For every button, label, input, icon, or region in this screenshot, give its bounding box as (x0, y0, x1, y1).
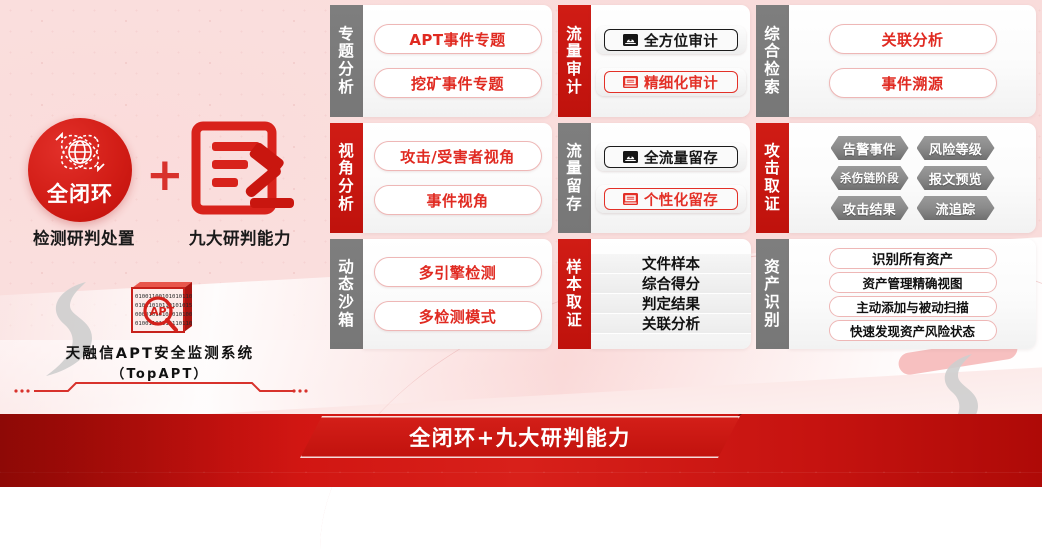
framed-button[interactable]: 个性化留存 (596, 185, 746, 213)
panel-label-traffic-retention: 流量留存 (558, 123, 591, 233)
label-char: 箱 (338, 312, 355, 330)
panel-label-perspective-analysis: 视角分析 (330, 123, 363, 233)
label-char: 角 (338, 160, 355, 178)
hex-button-group: 告警事件风险等级杀伤链阶段报文预览攻击结果流追踪 (831, 136, 995, 220)
panel-label-asset-identification: 资产识别 (756, 239, 789, 349)
label-char: 产 (764, 276, 781, 294)
plus-symbol: + (146, 152, 184, 197)
banner-shade (0, 414, 300, 487)
label-char: 取 (764, 178, 781, 196)
framed-button[interactable]: 全方位审计 (596, 26, 746, 54)
capability-grid: 专题分析APT事件专题挖矿事件专题流量审计全方位审计精细化审计综合检索关联分析事… (330, 5, 1036, 347)
hex-button[interactable]: 攻击结果 (831, 196, 909, 220)
framed-button-label: 全流量留存 (644, 147, 718, 168)
brand-label-left: 检测研判处置 (33, 225, 135, 249)
label-char: 样 (566, 259, 583, 277)
hex-button[interactable]: 告警事件 (831, 136, 909, 160)
panel-body-topic-analysis: APT事件专题挖矿事件专题 (363, 5, 552, 117)
framed-button-label: 精细化审计 (644, 72, 718, 93)
server-icon (623, 34, 638, 46)
panel-attack-forensics: 攻击取证告警事件风险等级杀伤链阶段报文预览攻击结果流追踪 (756, 123, 1036, 233)
panel-perspective-analysis: 视角分析攻击/受害者视角事件视角 (330, 123, 552, 233)
panel-sample-forensics: 样本取证文件样本综合得分判定结果关联分析 (558, 239, 750, 349)
hex-button[interactable]: 风险等级 (917, 136, 995, 160)
svg-text:APT: APT (150, 305, 175, 318)
brand-caption-row: 检测研判处置 九大研判能力 (6, 225, 318, 249)
label-char: 分 (338, 61, 355, 79)
pill-button[interactable]: 关联分析 (829, 24, 997, 54)
panel-body-traffic-retention: 全流量留存个性化留存 (591, 123, 750, 233)
product-name: 天融信APT安全监测系统 (14, 342, 306, 363)
hex-button[interactable]: 流追踪 (917, 196, 995, 220)
label-char: 动 (338, 259, 355, 277)
label-char: 取 (566, 294, 583, 312)
apt-server-magnifier-icon: 01001100101010110 01011010110101015 0000… (122, 282, 198, 336)
framed-button[interactable]: 全流量留存 (596, 143, 746, 171)
monitor-icon (623, 193, 638, 205)
label-char: 计 (566, 79, 583, 97)
label-char: 沙 (338, 294, 355, 312)
label-char: 资 (764, 259, 781, 277)
list-item[interactable]: 快速发现资产风险状态 (829, 320, 997, 341)
poster-root: 全闭环 + 检测研判处置 九大研判能力 010011001 (0, 0, 1042, 487)
panel-topic-analysis: 专题分析APT事件专题挖矿事件专题 (330, 5, 552, 117)
pill-button[interactable]: 攻击/受害者视角 (374, 141, 542, 171)
label-char: 合 (764, 43, 781, 61)
monitor-icon (623, 76, 638, 88)
panel-traffic-retention: 流量留存全流量留存个性化留存 (558, 123, 750, 233)
panel-label-dynamic-sandbox: 动态沙箱 (330, 239, 363, 349)
panel-body-dynamic-sandbox: 多引擎检测多检测模式 (363, 239, 552, 349)
panel-comprehensive-search: 综合检索关联分析事件溯源 (756, 5, 1036, 117)
pill-button[interactable]: 事件视角 (374, 185, 542, 215)
label-char: 题 (338, 43, 355, 61)
label-char: 流 (566, 26, 583, 44)
panel-body-perspective-analysis: 攻击/受害者视角事件视角 (363, 123, 552, 233)
row-list: 文件样本综合得分判定结果关联分析 (591, 254, 751, 334)
brand-label-right: 九大研判能力 (189, 225, 291, 249)
label-char: 击 (764, 160, 781, 178)
product-block: 01001100101010110 01011010110101015 0000… (14, 282, 306, 382)
label-char: 析 (338, 196, 355, 214)
list-item[interactable]: 综合得分 (591, 274, 751, 294)
document-gavel-icon (190, 120, 298, 220)
label-char: 视 (338, 143, 355, 161)
label-char: 索 (764, 79, 781, 97)
panel-traffic-audit: 流量审计全方位审计精细化审计 (558, 5, 750, 117)
panel-body-attack-forensics: 告警事件风险等级杀伤链阶段报文预览攻击结果流追踪 (789, 123, 1036, 233)
panel-asset-identification: 资产识别识别所有资产资产管理精确视图主动添加与被动扫描快速发现资产风险状态 (756, 239, 1036, 349)
framed-button[interactable]: 精细化审计 (596, 68, 746, 96)
panel-body-sample-forensics: 文件样本综合得分判定结果关联分析 (591, 239, 751, 349)
framed-button-label: 全方位审计 (644, 30, 718, 51)
label-char: 存 (566, 196, 583, 214)
hex-button[interactable]: 报文预览 (917, 166, 995, 190)
label-char: 别 (764, 312, 781, 330)
closed-loop-logo: 全闭环 (28, 118, 132, 222)
panel-label-traffic-audit: 流量审计 (558, 5, 591, 117)
hex-button[interactable]: 杀伤链阶段 (831, 166, 909, 190)
product-subname: （TopAPT） (14, 363, 306, 382)
list-item[interactable]: 文件样本 (591, 254, 751, 274)
label-char: 量 (566, 160, 583, 178)
banner-title: 全闭环+九大研判能力 (300, 416, 740, 458)
pill-button[interactable]: 事件溯源 (829, 68, 997, 98)
label-char: 检 (764, 61, 781, 79)
label-char: 量 (566, 43, 583, 61)
pill-button[interactable]: 多检测模式 (374, 301, 542, 331)
pill-button[interactable]: 挖矿事件专题 (374, 68, 542, 98)
label-char: 态 (338, 276, 355, 294)
label-char: 证 (566, 312, 583, 330)
bottom-banner: 全闭环+九大研判能力 (0, 414, 1042, 487)
label-char: 攻 (764, 143, 781, 161)
panel-body-asset-identification: 识别所有资产资产管理精确视图主动添加与被动扫描快速发现资产风险状态 (789, 239, 1036, 349)
pill-button[interactable]: APT事件专题 (374, 24, 542, 54)
brand-block: 全闭环 + 检测研判处置 九大研判能力 (6, 118, 318, 238)
label-char: 审 (566, 61, 583, 79)
label-char: 综 (764, 26, 781, 44)
list-item[interactable]: 关联分析 (591, 314, 751, 334)
label-char: 专 (338, 26, 355, 44)
list-item[interactable]: 资产管理精确视图 (829, 272, 997, 293)
label-char: 证 (764, 196, 781, 214)
label-char: 析 (338, 79, 355, 97)
panel-label-sample-forensics: 样本取证 (558, 239, 591, 349)
panel-label-attack-forensics: 攻击取证 (756, 123, 789, 233)
server-icon (623, 151, 638, 163)
label-char: 识 (764, 294, 781, 312)
list-item[interactable]: 主动添加与被动扫描 (829, 296, 997, 317)
list-item[interactable]: 判定结果 (591, 294, 751, 314)
panel-body-comprehensive-search: 关联分析事件溯源 (789, 5, 1036, 117)
pill-button[interactable]: 多引擎检测 (374, 257, 542, 287)
panel-label-comprehensive-search: 综合检索 (756, 5, 789, 117)
panel-label-topic-analysis: 专题分析 (330, 5, 363, 117)
list-item[interactable]: 识别所有资产 (829, 248, 997, 269)
framed-button-label: 个性化留存 (644, 189, 718, 210)
label-char: 流 (566, 143, 583, 161)
rounded-row-list: 识别所有资产资产管理精确视图主动添加与被动扫描快速发现资产风险状态 (829, 248, 997, 341)
panel-body-traffic-audit: 全方位审计精细化审计 (591, 5, 750, 117)
label-char: 留 (566, 178, 583, 196)
label-char: 分 (338, 178, 355, 196)
closed-loop-label: 全闭环 (28, 178, 132, 208)
label-char: 本 (566, 276, 583, 294)
panel-dynamic-sandbox: 动态沙箱多引擎检测多检测模式 (330, 239, 552, 349)
globe-orbit-icon (50, 128, 110, 180)
